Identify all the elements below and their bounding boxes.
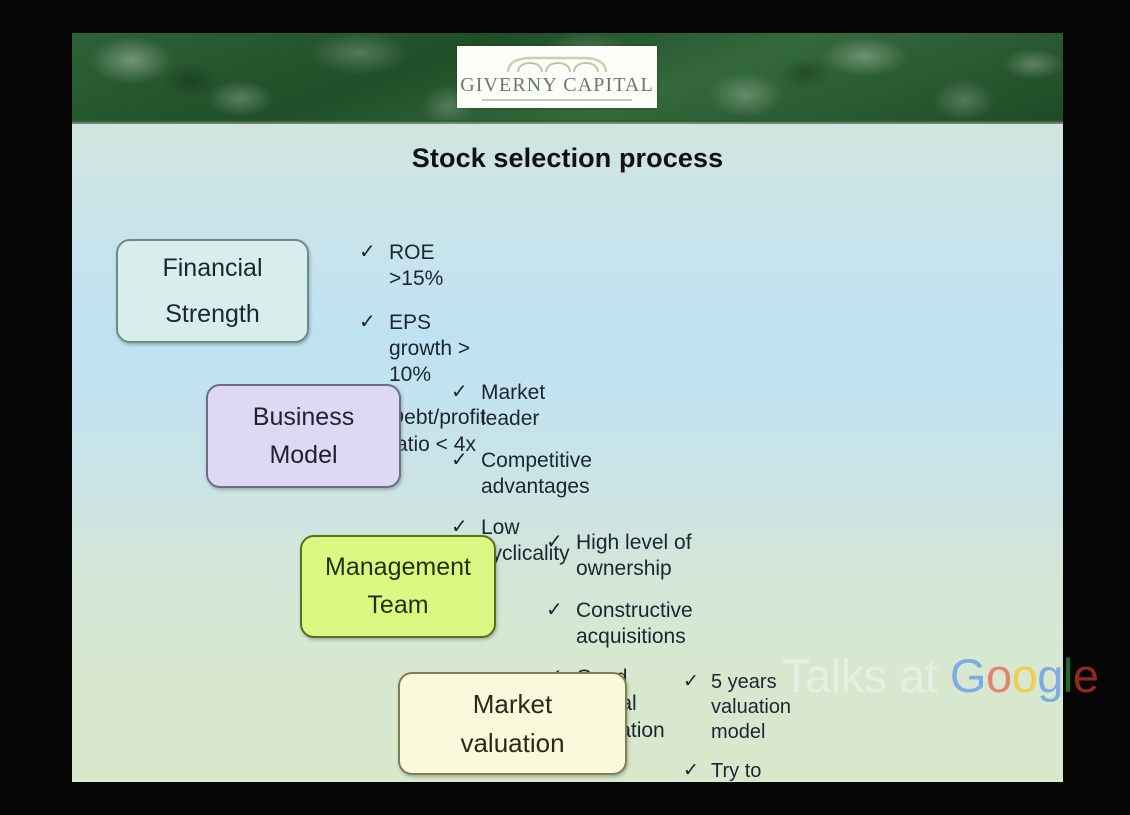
label-box-market-valuation: Market valuation [398,672,627,775]
logo-wordmark: GIVERNY CAPITAL [460,75,654,95]
label-box-financial-strength: Financial Strength [116,239,309,343]
list-item-text: EPS growth > 10% [389,310,486,389]
label-line: Management [325,551,471,584]
check-icon: ✓ [546,598,576,623]
label-line: Team [367,589,428,622]
watermark-letter-l: l [1063,649,1073,702]
list-item: ✓ Competitive advantages [451,448,592,501]
list-item-text: Competitive advantages [481,448,592,501]
logo-rule [482,99,632,101]
check-icon: ✓ [546,530,576,555]
bridge-arch-icon [505,54,609,74]
label-line: Model [269,439,337,472]
check-icon: ✓ [451,380,481,405]
watermark-letter-e: e [1073,649,1099,702]
presentation-slide: GIVERNY CAPITAL Stock selection process … [72,33,1063,782]
list-item-text: High level of ownership [576,530,693,583]
video-frame: GIVERNY CAPITAL Stock selection process … [0,0,1130,815]
label-box-business-model: Business Model [206,384,401,488]
label-line: Market [473,687,552,721]
label-line: valuation [460,726,564,760]
label-line: Business [253,401,354,434]
label-line: Strength [165,298,260,331]
bullet-list-market-valuation: ✓ 5 years valuation model ✓ Try to Purch… [683,670,798,782]
giverny-capital-logo: GIVERNY CAPITAL [457,46,657,108]
list-item: ✓ Constructive acquisitions [546,598,693,651]
list-item: ✓ EPS growth > 10% [359,310,486,389]
page-title: Stock selection process [72,143,1063,174]
label-line: Financial [162,252,262,285]
check-icon: ✓ [451,448,481,473]
check-icon: ✓ [683,759,711,782]
check-icon: ✓ [683,670,711,694]
list-item-text: Market leader [481,380,592,433]
list-item-text: ROE >15% [389,240,486,293]
list-item-text: 5 years valuation model [711,670,798,745]
label-box-management-team: Management Team [300,535,496,638]
list-item: ✓ 5 years valuation model [683,670,798,745]
list-item: ✓ High level of ownership [546,530,693,583]
check-icon: ✓ [359,310,389,335]
list-item: ✓ Try to Purchase at half the estimated … [683,759,798,782]
list-item-text: Try to Purchase at half the estimated va… [711,759,798,782]
list-item: ✓ ROE >15% [359,240,486,293]
list-item-text: Constructive acquisitions [576,598,693,651]
check-icon: ✓ [359,240,389,265]
list-item: ✓ Market leader [451,380,592,433]
